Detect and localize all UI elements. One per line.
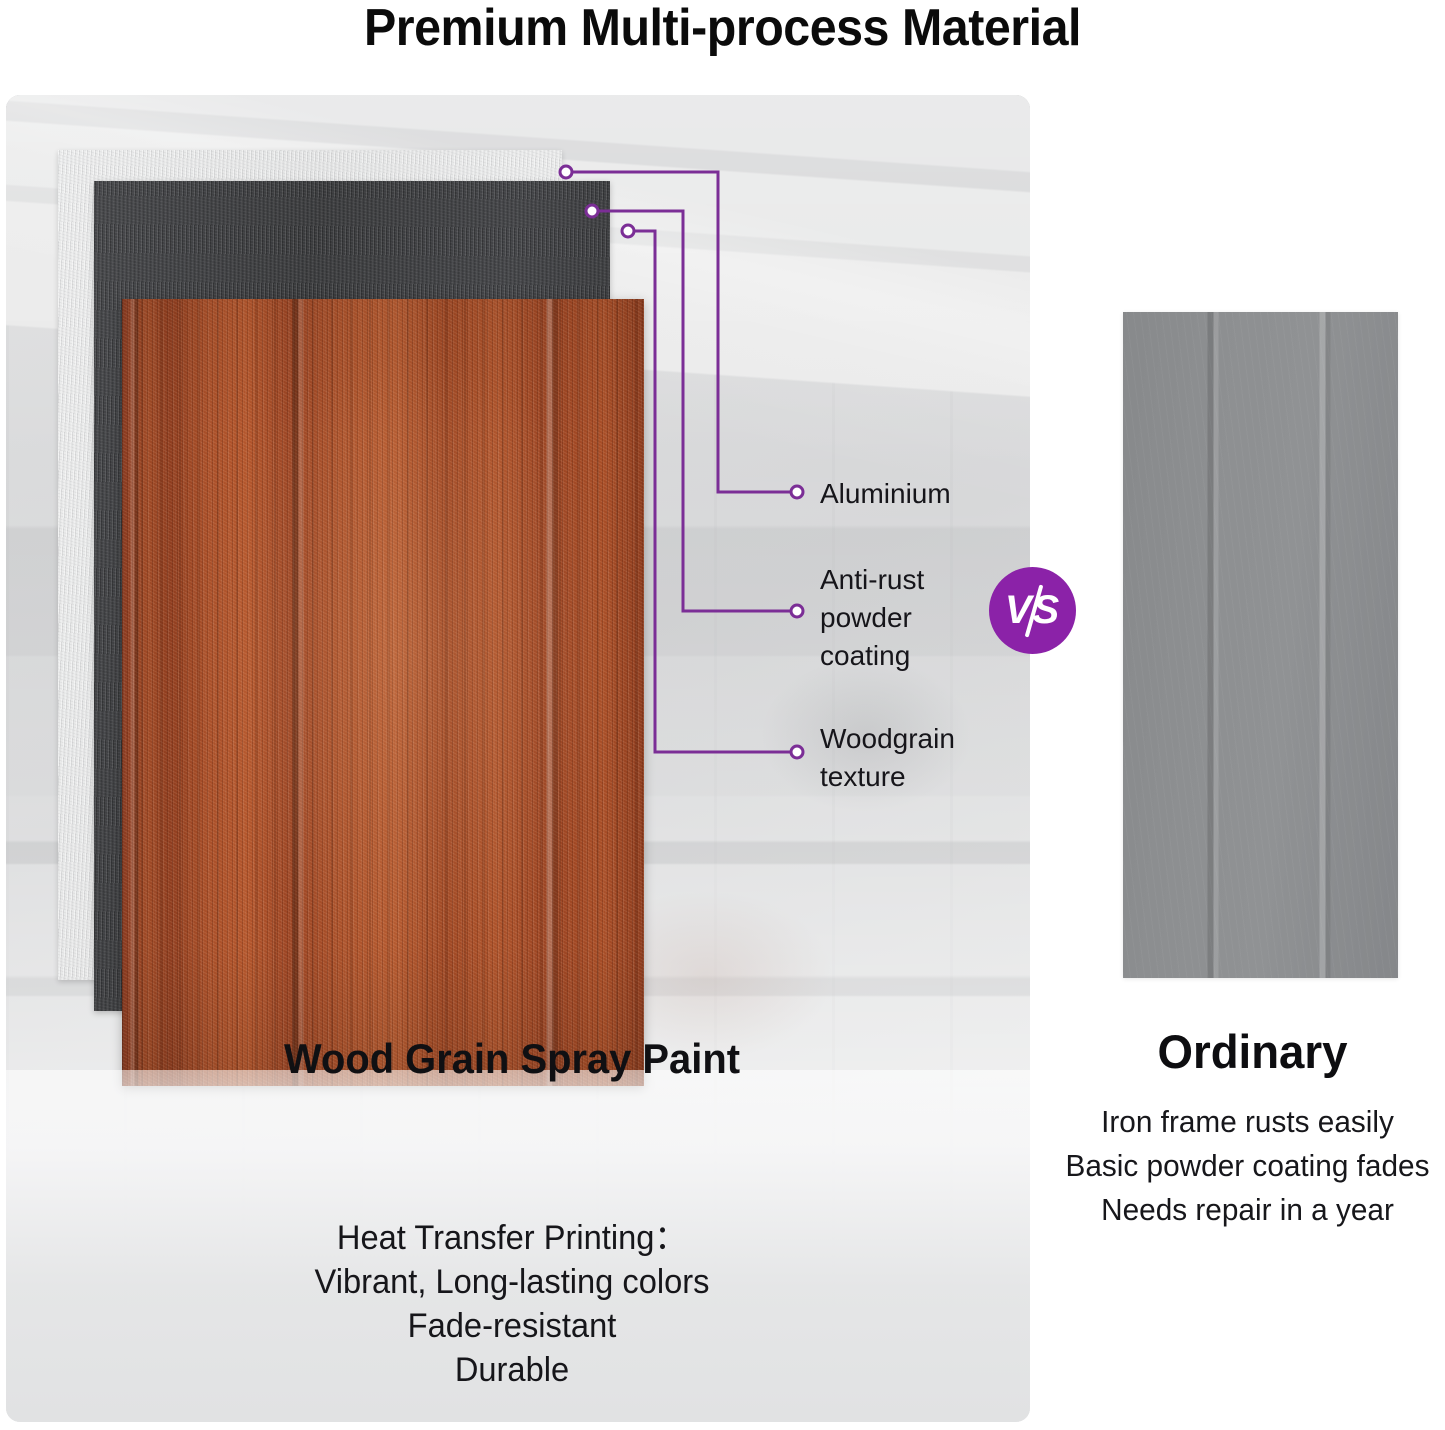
infographic-root: Premium Multi-process Material Alumini bbox=[0, 0, 1445, 1430]
woodgrain-texture-layer bbox=[122, 299, 644, 1086]
callout-label-anti-rust-powder-coating: Anti-rust powder coating bbox=[820, 561, 924, 675]
ordinary-bullet-item: Needs repair in a year bbox=[1058, 1188, 1437, 1232]
left-bullet-item: Fade-resistant bbox=[20, 1304, 1003, 1348]
callout-label-woodgrain-texture: Woodgrain texture bbox=[820, 720, 955, 796]
ordinary-bullet-item: Basic powder coating fades bbox=[1058, 1144, 1437, 1188]
left-bullet-item: Vibrant, Long-lasting colors bbox=[20, 1260, 1003, 1304]
ordinary-bullet-list: Iron frame rusts easily Basic powder coa… bbox=[1058, 1100, 1437, 1232]
ordinary-bullet-item: Iron frame rusts easily bbox=[1058, 1100, 1437, 1144]
ordinary-heading: Ordinary bbox=[1066, 1024, 1439, 1079]
vs-badge: VS bbox=[989, 567, 1076, 654]
left-bullet-item: Heat Transfer Printing： bbox=[20, 1216, 1003, 1260]
ordinary-gray-panel bbox=[1123, 312, 1398, 978]
callout-label-aluminium: Aluminium bbox=[820, 475, 951, 513]
left-bullet-list: Heat Transfer Printing： Vibrant, Long-la… bbox=[20, 1216, 1003, 1392]
left-heading: Wood Grain Spray Paint bbox=[26, 1035, 999, 1083]
page-title: Premium Multi-process Material bbox=[51, 0, 1395, 58]
left-bullet-item: Durable bbox=[20, 1348, 1003, 1392]
